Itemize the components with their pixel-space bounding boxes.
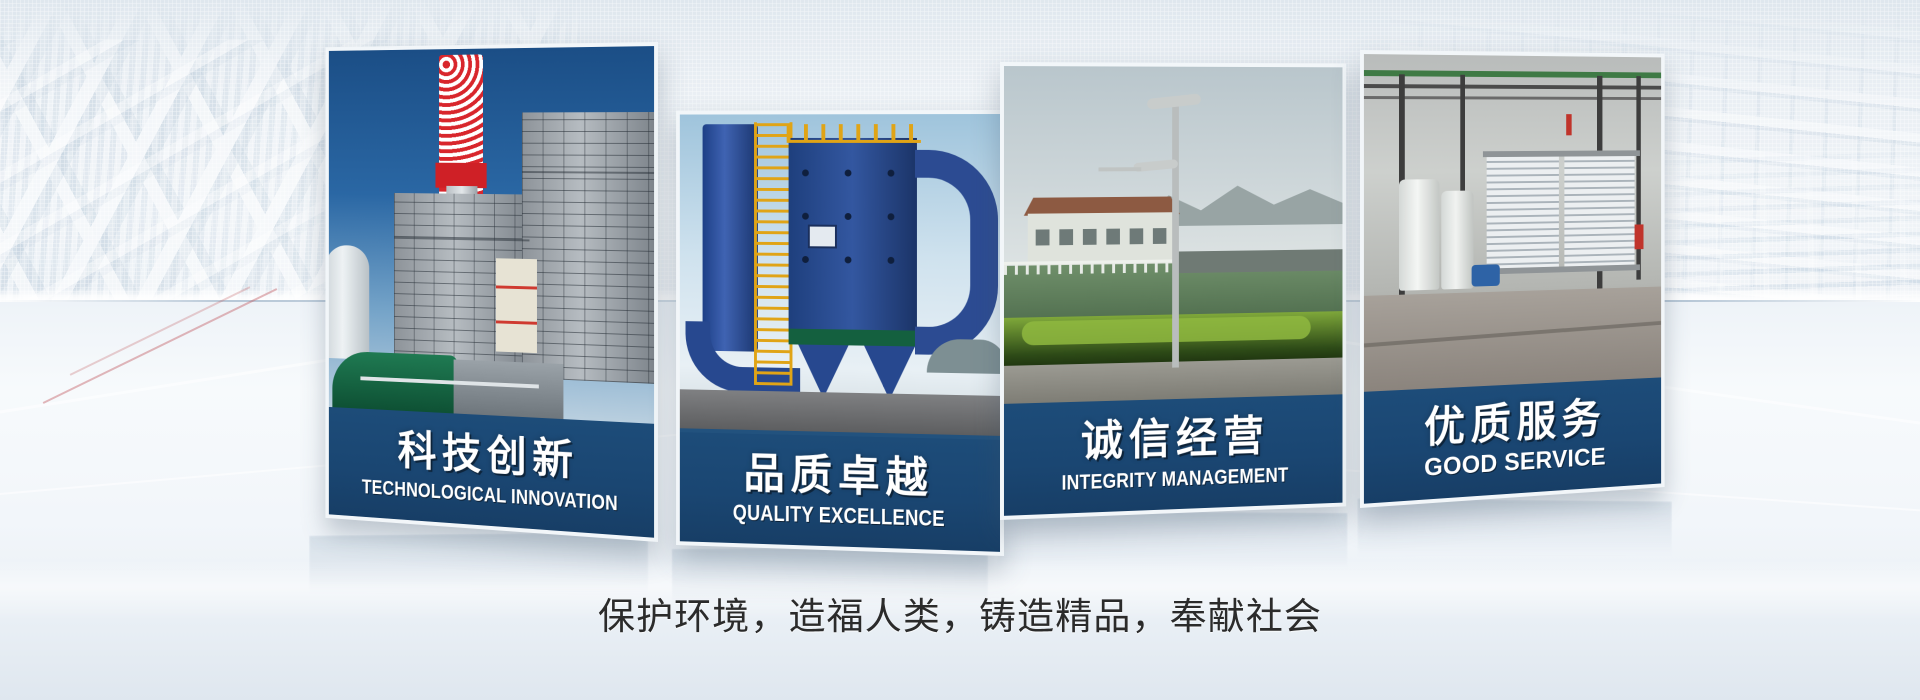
valve-bolt — [802, 256, 809, 263]
control-panel-box — [808, 225, 837, 249]
valve-bolt — [845, 256, 852, 263]
caption-cn-title: 优质服务 — [1424, 397, 1606, 451]
caption-en-title: INTEGRITY MANAGEMENT — [1061, 463, 1288, 494]
chemical-dosing-tank — [1441, 191, 1473, 290]
ro-membrane-rack — [1564, 152, 1634, 268]
valve-bolt — [802, 213, 809, 220]
concrete-base — [680, 389, 1000, 436]
valve-bolt — [888, 213, 895, 220]
clarifier-bridge — [1176, 249, 1342, 273]
valve-bolt — [845, 170, 852, 177]
silo-tank — [329, 245, 369, 360]
chimney-base — [435, 163, 486, 189]
collector-top-rail — [787, 124, 921, 143]
lamp-arm — [1099, 167, 1142, 171]
boiler-tower-right — [522, 112, 654, 384]
caption-technological-innovation: 科技创新 TECHNOLOGICAL INNOVATION — [329, 407, 654, 538]
building-windows — [1036, 228, 1169, 246]
caption-quality-excellence: 品质卓越 QUALITY EXCELLENCE — [680, 432, 1000, 552]
caption-cn-title: 科技创新 — [398, 430, 579, 485]
chemical-dosing-tank — [1399, 179, 1439, 291]
photo-integrity-management — [1004, 66, 1342, 404]
blue-pump — [1472, 264, 1500, 286]
panel-technological-innovation[interactable]: 科技创新 TECHNOLOGICAL INNOVATION — [325, 42, 658, 542]
valve-bolt — [888, 257, 895, 264]
valve-bolt — [802, 169, 809, 176]
u-shaped-duct — [915, 150, 998, 356]
photo-technological-innovation — [329, 46, 654, 424]
caption-good-service: 优质服务 GOOD SERVICE — [1364, 377, 1661, 503]
panel-quality-excellence[interactable]: 品质卓越 QUALITY EXCELLENCE — [676, 110, 1004, 556]
caption-cn-title: 诚信经营 — [1081, 415, 1270, 465]
caption-en-title: TECHNOLOGICAL INNOVATION — [362, 475, 618, 514]
caption-en-title: QUALITY EXCELLENCE — [733, 501, 945, 531]
tower-texture — [522, 112, 654, 384]
hopper-cone — [798, 345, 848, 399]
hopper-cone — [864, 346, 915, 400]
side-building — [496, 258, 537, 353]
caption-cn-title: 品质卓越 — [743, 452, 933, 502]
photo-quality-excellence — [680, 114, 1000, 436]
caption-integrity-management: 诚信经营 INTEGRITY MANAGEMENT — [1004, 394, 1342, 516]
red-valve — [1566, 114, 1571, 135]
grey-equipment-box — [454, 359, 564, 419]
ladder-cage-icon — [754, 122, 792, 385]
red-valve — [1635, 224, 1644, 249]
ro-membrane-rack — [1487, 157, 1559, 271]
banner-tagline: 保护环境，造福人类，铸造精品，奉献社会 — [0, 586, 1920, 640]
street-lamp-pole — [1172, 106, 1179, 368]
banner-stage: 科技创新 TECHNOLOGICAL INNOVATION — [0, 0, 1920, 700]
valve-bolt — [888, 170, 895, 177]
photo-good-service — [1364, 54, 1661, 392]
valve-bolt — [845, 213, 852, 220]
panel-good-service[interactable]: 优质服务 GOOD SERVICE — [1360, 50, 1665, 508]
vertical-duct — [703, 124, 758, 351]
panel-integrity-management[interactable]: 诚信经营 INTEGRITY MANAGEMENT — [1000, 62, 1346, 520]
rack-frame — [1483, 150, 1640, 157]
